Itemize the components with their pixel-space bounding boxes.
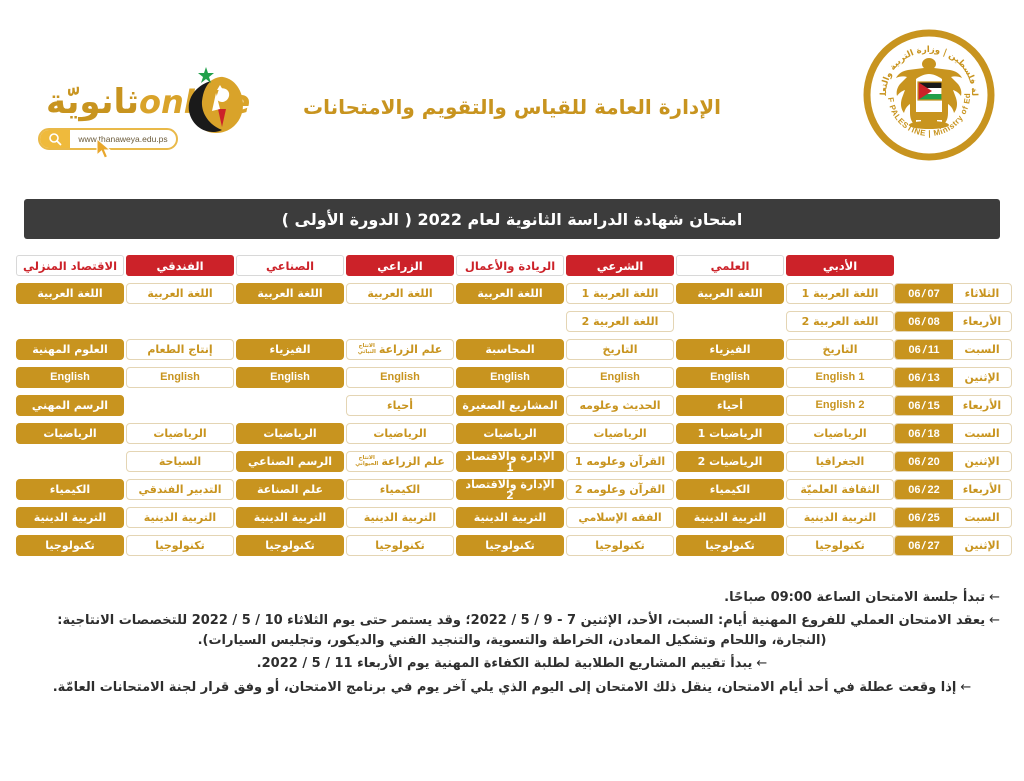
subject-label: English [600, 372, 640, 383]
date-row: 06/25السبت [894, 507, 1012, 528]
note-line: ←يعقد الامتحان العملي للفروع المهنية أيا… [57, 613, 1000, 628]
date-separator: / [921, 400, 927, 412]
subject-label: English [270, 372, 310, 383]
schedule-cell[interactable]: الرياضيات [566, 423, 674, 444]
note-line: ←تبدأ جلسة الامتحان الساعة 09:00 صباحًا. [724, 590, 1000, 605]
weekday-label: الإثنين [953, 371, 1011, 384]
column-header-2[interactable]: الشرعي [566, 255, 674, 276]
schedule-column: العلمياللغة العربيةالفيزياءEnglishأحياءا… [676, 255, 784, 563]
palestine-ministry-emblem-icon: دولة فلسطين | وزارة التربية والتعليم STA… [862, 28, 996, 162]
schedule-cell[interactable]: الرياضيات [456, 423, 564, 444]
exam-date: 06/22 [895, 480, 953, 499]
date-separator: / [921, 540, 927, 552]
date-separator: / [921, 344, 927, 356]
schedule-cell[interactable]: السياحة [126, 451, 234, 472]
weekday-label: السبت [953, 343, 1011, 356]
date-row: 06/27الإثنين [894, 535, 1012, 556]
page-header: onlineثانويّة www.thanaweya.edu.ps [0, 0, 1024, 190]
bullet-arrow-icon: ← [989, 613, 1000, 628]
schedule-column: الشرعياللغة العربية 1اللغة العربية 2التا… [566, 255, 674, 563]
schedule-cell-empty [456, 311, 564, 332]
date-row: 06/13الإثنين [894, 367, 1012, 388]
schedule-cell[interactable]: English [346, 367, 454, 388]
schedule-cell-empty [126, 311, 234, 332]
schedule-cell[interactable]: الإدارة والاقتصاد 1 [456, 451, 564, 472]
schedule-cell[interactable]: English [16, 367, 124, 388]
footer-note: ←يبدأ تقييم المشاريع الطلابية لطلبة الكف… [24, 654, 1000, 674]
note-line: ←يبدأ تقييم المشاريع الطلابية لطلبة الكف… [257, 656, 768, 671]
weekday-label: الإثنين [953, 455, 1011, 468]
schedule-cell[interactable]: العلوم المهنية [16, 339, 124, 360]
date-month: 06 [908, 372, 920, 384]
date-separator: / [921, 512, 927, 524]
schedule-cell[interactable]: الرياضيات [346, 423, 454, 444]
schedule-cell[interactable]: English [456, 367, 564, 388]
date-day-number: 25 [928, 512, 940, 524]
date-row: 06/11السبت [894, 339, 1012, 360]
schedule-cell-empty [346, 311, 454, 332]
schedule-cell[interactable]: التاريخ [786, 339, 894, 360]
schedule-cell[interactable]: أحياء [676, 395, 784, 416]
date-row: 06/15الأربعاء [894, 395, 1012, 416]
date-month: 06 [908, 428, 920, 440]
subject-label: English [160, 372, 200, 383]
subject-label: English [380, 372, 420, 383]
schedule-grid: 06/07الثلاثاء06/08الأربعاء06/11السبت06/1… [14, 255, 1012, 563]
date-day-number: 08 [928, 316, 940, 328]
schedule-cell[interactable]: اللغة العربية 1 [566, 283, 674, 304]
schedule-cell[interactable]: أحياء [346, 395, 454, 416]
schedule-cell[interactable]: اللغة العربية 2 [786, 311, 894, 332]
schedule-cell[interactable]: تكنولوجيا [676, 535, 784, 556]
date-row: 06/20الإثنين [894, 451, 1012, 472]
bullet-arrow-icon: ← [756, 656, 767, 671]
exam-date: 06/15 [895, 396, 953, 415]
schedule-column: الريادة والأعمالاللغة العربيةالمحاسبةEng… [456, 255, 564, 563]
date-month: 06 [908, 540, 920, 552]
exam-date: 06/07 [895, 284, 953, 303]
schedule-cell[interactable]: المحاسبة [456, 339, 564, 360]
subject-label: علم الزراعة [381, 456, 445, 467]
column-header-3[interactable]: الريادة والأعمال [456, 255, 564, 276]
schedule-cell[interactable]: إنتاج الطعام [126, 339, 234, 360]
subject-label: English 1 [816, 372, 865, 383]
schedule-cell[interactable]: الرسم الصناعي [236, 451, 344, 472]
subject-subtitle: الانتاجالحيواني [355, 456, 378, 468]
exam-date: 06/20 [895, 452, 953, 471]
schedule-cell[interactable]: الكيمياء [16, 479, 124, 500]
note-text: تبدأ جلسة الامتحان الساعة 09:00 صباحًا. [724, 590, 985, 605]
schedule-cell[interactable]: اللغة العربية [16, 283, 124, 304]
date-month: 06 [908, 400, 920, 412]
footer-note: ←يعقد الامتحان العملي للفروع المهنية أيا… [24, 611, 1000, 651]
schedule-cell[interactable]: التربية الدينية [236, 507, 344, 528]
date-day-number: 15 [928, 400, 940, 412]
schedule-column: الصناعياللغة العربيةالفيزياءEnglishالريا… [236, 255, 344, 563]
schedule-title-text: امتحان شهادة الدراسة الثانوية لعام 2022 … [282, 210, 743, 229]
schedule-cell-empty [126, 395, 234, 416]
bullet-arrow-icon: ← [989, 590, 1000, 605]
schedule-cell-empty [16, 311, 124, 332]
schedule-cell[interactable]: التربية الدينية [456, 507, 564, 528]
weekday-label: الإثنين [953, 539, 1011, 552]
date-separator: / [921, 456, 927, 468]
date-row: 06/18السبت [894, 423, 1012, 444]
bullet-arrow-icon: ← [960, 680, 971, 695]
weekday-label: الأربعاء [953, 315, 1011, 328]
schedule-column: الفندقياللغة العربيةإنتاج الطعامEnglishا… [126, 255, 234, 563]
exam-date: 06/18 [895, 424, 953, 443]
date-month: 06 [908, 484, 920, 496]
weekday-label: الأربعاء [953, 399, 1011, 412]
date-month: 06 [909, 344, 921, 356]
schedule-cell[interactable]: English 2 [786, 395, 894, 416]
date-row: 06/07الثلاثاء [894, 283, 1012, 304]
exam-schedule-page: onlineثانويّة www.thanaweya.edu.ps [0, 0, 1024, 781]
footer-note: ←تبدأ جلسة الامتحان الساعة 09:00 صباحًا. [24, 588, 1000, 608]
date-column-header [894, 255, 1012, 276]
schedule-cell[interactable]: اللغة العربية [456, 283, 564, 304]
schedule-cell[interactable]: English [566, 367, 674, 388]
schedule-cell[interactable]: تكنولوجيا [346, 535, 454, 556]
weekday-label: السبت [953, 427, 1011, 440]
exam-date: 06/13 [895, 368, 953, 387]
schedule-cell-empty [236, 311, 344, 332]
schedule-cell[interactable]: التربية الدينية [676, 507, 784, 528]
column-header-1[interactable]: العلمي [676, 255, 784, 276]
date-day-number: 11 [928, 344, 940, 356]
schedule-cell[interactable]: اللغة العربية [676, 283, 784, 304]
column-header-4[interactable]: الزراعي [346, 255, 454, 276]
date-row: 06/08الأربعاء [894, 311, 1012, 332]
subject-label: English 2 [816, 400, 865, 411]
exam-date: 06/08 [895, 312, 953, 331]
schedule-cell[interactable]: تكنولوجيا [566, 535, 674, 556]
column-header-0[interactable]: الأدبي [786, 255, 894, 276]
date-month: 06 [908, 316, 920, 328]
date-day-number: 13 [928, 372, 940, 384]
schedule-column: الأدبياللغة العربية 1اللغة العربية 2التا… [786, 255, 894, 563]
note-text-continued: (النجارة، واللحام وتشكيل المعادن، الخراط… [24, 631, 1000, 651]
schedule-cell[interactable]: الجغرافيا [786, 451, 894, 472]
schedule-cell[interactable]: تكنولوجيا [786, 535, 894, 556]
schedule-cell[interactable]: التربية الدينية [126, 507, 234, 528]
date-separator: / [921, 484, 927, 496]
subject-label: English [50, 372, 90, 383]
schedule-cell[interactable]: اللغة العربية [236, 283, 344, 304]
schedule-cell-empty [236, 395, 344, 416]
schedule-cell[interactable]: اللغة العربية [126, 283, 234, 304]
date-day-number: 22 [928, 484, 940, 496]
schedule-cell[interactable]: الرياضيات 1 [676, 423, 784, 444]
schedule-cell[interactable]: علم الصناعة [236, 479, 344, 500]
subject-label: English [710, 372, 750, 383]
mouse-cursor-icon [96, 138, 114, 160]
schedule-cell[interactable]: اللغة العربية [346, 283, 454, 304]
date-separator: / [921, 372, 927, 384]
column-header-5[interactable]: الصناعي [236, 255, 344, 276]
date-day-number: 07 [928, 288, 940, 300]
schedule-cell[interactable]: English 1 [786, 367, 894, 388]
schedule-cell-empty [16, 451, 124, 472]
schedule-cell[interactable]: الرياضيات [16, 423, 124, 444]
search-icon[interactable] [40, 130, 70, 148]
schedule-cell[interactable]: تكنولوجيا [16, 535, 124, 556]
schedule-cell[interactable]: الفقه الإسلامي [566, 507, 674, 528]
schedule-cell-empty [676, 311, 784, 332]
weekday-label: الثلاثاء [953, 287, 1011, 300]
date-row: 06/22الأربعاء [894, 479, 1012, 500]
weekday-label: الأربعاء [953, 483, 1011, 496]
schedule-cell[interactable]: اللغة العربية 1 [786, 283, 894, 304]
exam-date: 06/27 [895, 536, 953, 555]
note-text: يبدأ تقييم المشاريع الطلابية لطلبة الكفا… [257, 656, 753, 671]
schedule-cell[interactable]: الثقافة العلميّة [786, 479, 894, 500]
schedule-cell[interactable]: الفيزياء [676, 339, 784, 360]
schedule-cell[interactable]: الحديث وعلومه [566, 395, 674, 416]
schedule-cell[interactable]: التربية الدينية [786, 507, 894, 528]
schedule-cell[interactable]: القرآن وعلومه 1 [566, 451, 674, 472]
schedule-cell[interactable]: تكنولوجيا [236, 535, 344, 556]
schedule-column: الاقتصاد المنزلياللغة العربيةالعلوم المه… [16, 255, 124, 563]
schedule-cell[interactable]: التربية الدينية [346, 507, 454, 528]
date-day-number: 18 [928, 428, 940, 440]
schedule-cell[interactable]: الكيمياء [346, 479, 454, 500]
subject-subtitle: الانتاجالنباتي [358, 344, 376, 356]
schedule-cell[interactable]: الرسم المهني [16, 395, 124, 416]
date-day-number: 27 [928, 540, 940, 552]
schedule-cell[interactable]: الفيزياء [236, 339, 344, 360]
note-text: يعقد الامتحان العملي للفروع المهنية أيام… [57, 613, 985, 628]
schedule-cell[interactable]: القرآن وعلومه 2 [566, 479, 674, 500]
schedule-cell[interactable]: الإدارة والاقتصاد 2 [456, 479, 564, 500]
schedule-cell[interactable]: التاريخ [566, 339, 674, 360]
date-month: 06 [908, 288, 920, 300]
schedule-cell[interactable]: تكنولوجيا [126, 535, 234, 556]
schedule-cell[interactable]: الرياضيات [786, 423, 894, 444]
column-header-6[interactable]: الفندقي [126, 255, 234, 276]
date-month: 06 [908, 512, 920, 524]
subject-label: علم الزراعة [379, 344, 443, 355]
weekday-label: السبت [953, 511, 1011, 524]
schedule-cell[interactable]: اللغة العربية 2 [566, 311, 674, 332]
schedule-cell[interactable]: التربية الدينية [16, 507, 124, 528]
date-separator: / [921, 316, 927, 328]
site-url-text: www.thanaweya.edu.ps [70, 134, 176, 144]
footer-notes: ←تبدأ جلسة الامتحان الساعة 09:00 صباحًا.… [24, 588, 1000, 701]
column-header-7[interactable]: الاقتصاد المنزلي [16, 255, 124, 276]
date-separator: / [921, 288, 927, 300]
schedule-cell[interactable]: التدبير الفندقي [126, 479, 234, 500]
schedule-cell[interactable]: الكيمياء [676, 479, 784, 500]
exam-date: 06/11 [895, 340, 953, 359]
footer-note: ←إذا وقعت عطلة في أحد أيام الامتحان، ينق… [24, 678, 1000, 698]
subject-label: English [490, 372, 530, 383]
thanaweya-logo[interactable]: onlineثانويّة www.thanaweya.edu.ps [28, 60, 328, 180]
schedule-cell[interactable]: الرياضيات 2 [676, 451, 784, 472]
schedule-cell[interactable]: المشاريع الصغيرة [456, 395, 564, 416]
schedule-cell[interactable]: الرياضيات [126, 423, 234, 444]
schedule-title-bar: امتحان شهادة الدراسة الثانوية لعام 2022 … [24, 199, 1000, 239]
date-day-number: 20 [928, 456, 940, 468]
schedule-cell[interactable]: تكنولوجيا [456, 535, 564, 556]
note-text: إذا وقعت عطلة في أحد أيام الامتحان، ينقل… [53, 680, 957, 695]
exam-date: 06/25 [895, 508, 953, 527]
schedule-column: الزراعياللغة العربيةعلم الزراعةالانتاجال… [346, 255, 454, 563]
date-separator: / [921, 428, 927, 440]
date-column: 06/07الثلاثاء06/08الأربعاء06/11السبت06/1… [894, 255, 1012, 563]
schedule-cell[interactable]: علم الزراعةالانتاجالحيواني [346, 451, 454, 472]
schedule-cell[interactable]: الرياضيات [236, 423, 344, 444]
note-line: ←إذا وقعت عطلة في أحد أيام الامتحان، ينق… [53, 680, 972, 695]
schedule-cell[interactable]: English [236, 367, 344, 388]
schedule-cell[interactable]: علم الزراعةالانتاجالنباتي [346, 339, 454, 360]
schedule-cell[interactable]: English [676, 367, 784, 388]
date-month: 06 [908, 456, 920, 468]
schedule-cell[interactable]: English [126, 367, 234, 388]
